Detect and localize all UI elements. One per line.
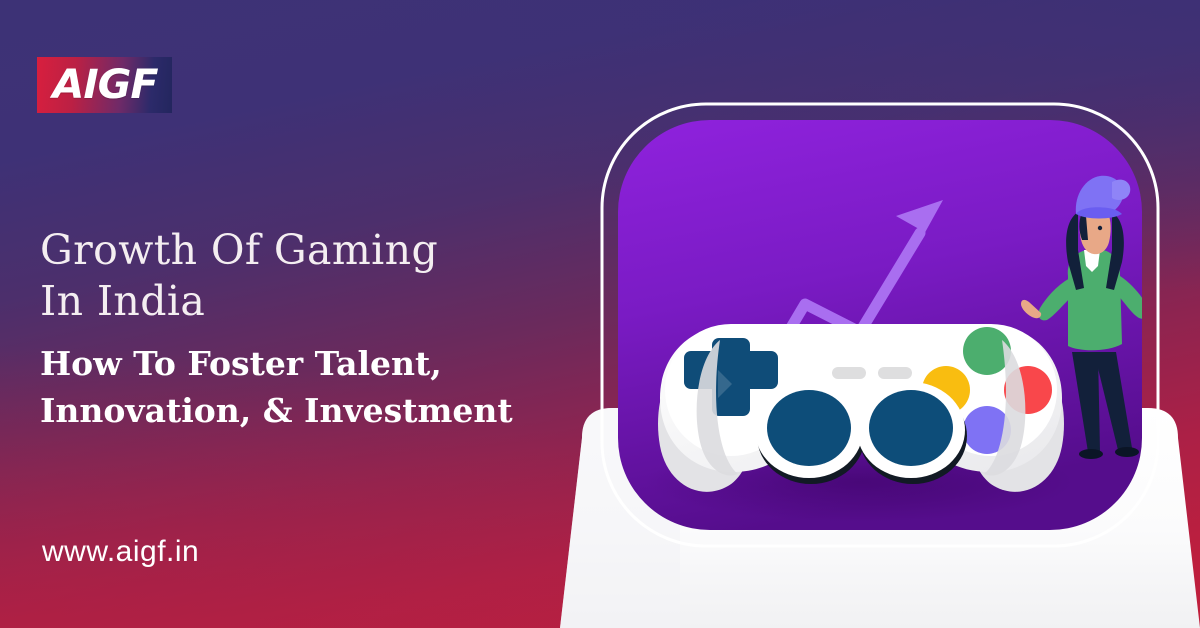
logo-text: AIGF: [52, 65, 157, 105]
page-subtitle: How To Foster Talent, Innovation, & Inve…: [40, 341, 580, 435]
copy-block: Growth Of Gaming In India How To Foster …: [40, 225, 580, 434]
aigf-logo[interactable]: AIGF: [37, 57, 172, 113]
website-url[interactable]: www.aigf.in: [42, 535, 199, 569]
promo-banner: AIGF Growth Of Gaming In India How To Fo…: [0, 0, 1200, 628]
page-title: Growth Of Gaming In India: [40, 225, 580, 327]
gaming-illustration: [560, 90, 1200, 628]
